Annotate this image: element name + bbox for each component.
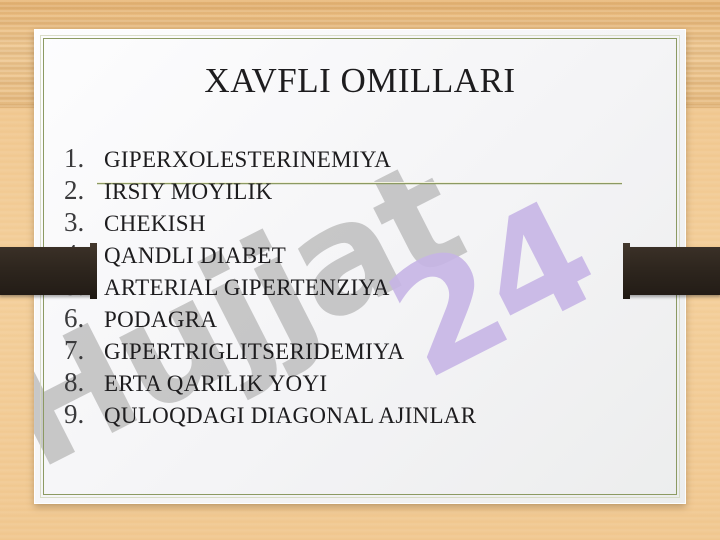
list-item-number: 3. bbox=[60, 207, 104, 238]
clamp-bar-right bbox=[626, 247, 720, 295]
list-item-number: 8. bbox=[60, 367, 104, 398]
list-item-label: ERTA QARILIK YOYI bbox=[104, 371, 327, 397]
slide-content: XAVFLI OMILLARI 1.GIPERXOLESTERINEMIYA2.… bbox=[34, 29, 686, 504]
list-item: 6.PODAGRA bbox=[60, 303, 670, 335]
list-item: 8.ERTA QARILIK YOYI bbox=[60, 367, 670, 399]
list-item-label: QANDLI DIABET bbox=[104, 243, 286, 269]
clamp-bar-left bbox=[0, 247, 94, 295]
list-item-label: GIPERXOLESTERINEMIYA bbox=[104, 147, 391, 173]
list-item-number: 6. bbox=[60, 303, 104, 334]
list-item-number: 1. bbox=[60, 143, 104, 174]
list-item-label: IRSIY MOYILIK bbox=[104, 179, 273, 205]
risk-factors-list: 1.GIPERXOLESTERINEMIYA2.IRSIY MOYILIK3.C… bbox=[60, 143, 670, 431]
page-title: XAVFLI OMILLARI bbox=[34, 62, 686, 101]
list-item-label: QULOQDAGI DIAGONAL AJINLAR bbox=[104, 403, 476, 429]
list-item: 3.CHEKISH bbox=[60, 207, 670, 239]
list-item-number: 7. bbox=[60, 335, 104, 366]
presentation-slide: Hujjat 24 XAVFLI OMILLARI 1.GIPERXOLESTE… bbox=[34, 29, 686, 504]
clamp-cap-left bbox=[90, 243, 97, 299]
list-item: 9.QULOQDAGI DIAGONAL AJINLAR bbox=[60, 399, 670, 431]
list-item: 4.QANDLI DIABET bbox=[60, 239, 670, 271]
list-item-label: PODAGRA bbox=[104, 307, 217, 333]
clamp-cap-right bbox=[623, 243, 630, 299]
list-item: 2.IRSIY MOYILIK bbox=[60, 175, 670, 207]
list-item: 1.GIPERXOLESTERINEMIYA bbox=[60, 143, 670, 175]
list-item-label: CHEKISH bbox=[104, 211, 206, 237]
list-item: 5.ARTERIAL GIPERTENZIYA bbox=[60, 271, 670, 303]
slide-stage: Hujjat 24 XAVFLI OMILLARI 1.GIPERXOLESTE… bbox=[0, 0, 720, 540]
list-item-number: 2. bbox=[60, 175, 104, 206]
list-item: 7.GIPERTRIGLITSERIDEMIYA bbox=[60, 335, 670, 367]
list-item-label: ARTERIAL GIPERTENZIYA bbox=[104, 275, 390, 301]
list-item-number: 9. bbox=[60, 399, 104, 430]
list-item-label: GIPERTRIGLITSERIDEMIYA bbox=[104, 339, 404, 365]
